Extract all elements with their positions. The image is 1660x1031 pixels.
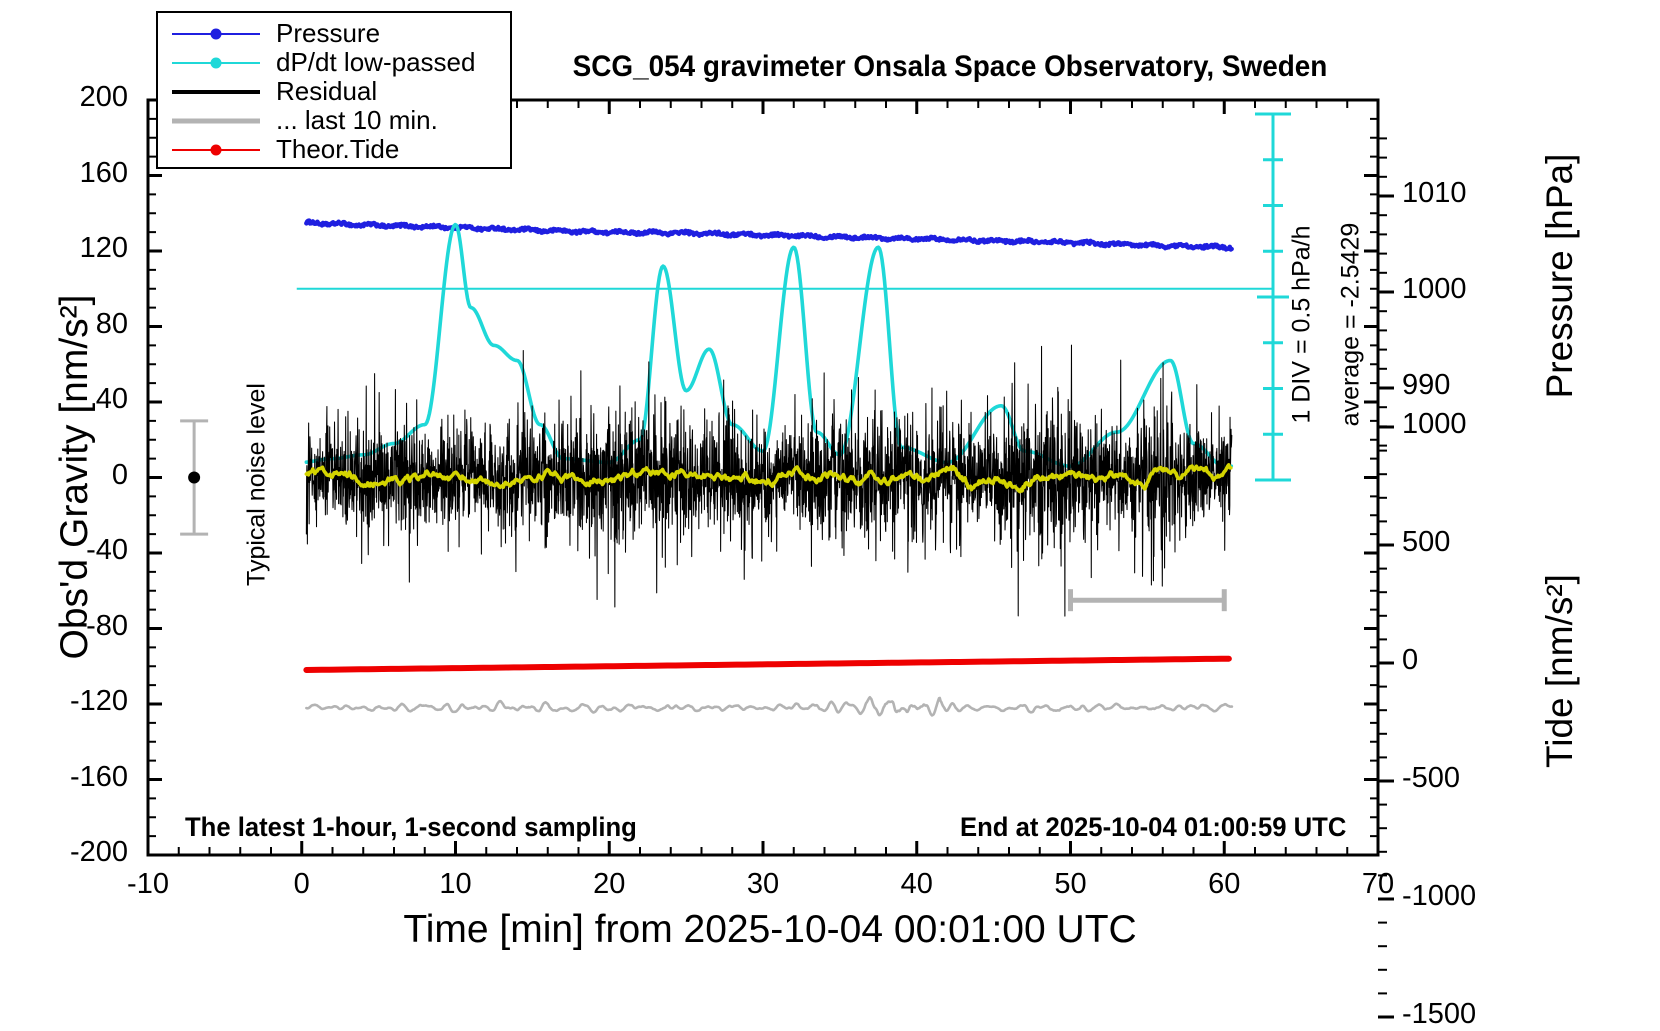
typical-noise-level-label: Typical noise level [243,365,272,605]
plot-canvas: SCG_054 gravimeter Onsala Space Observat… [0,0,1660,1020]
series-layer [297,221,1273,716]
y-tick-left--40: -40 [18,534,128,567]
legend-item-pressure[interactable]: Pressure [158,19,510,48]
dpdt-average-label: average = -2.5429 [1337,200,1366,450]
legend-swatch-last10 [172,111,260,131]
x-tick--10: -10 [93,868,203,901]
y-tick-tide-500: 500 [1402,526,1542,559]
y-tick-left-0: 0 [18,459,128,492]
y-tick-left--120: -120 [18,685,128,718]
footer-right-note: End at 2025-10-04 01:00:59 UTC [960,812,1346,843]
y-tick-left-200: 200 [18,81,128,114]
x-tick-60: 60 [1169,868,1279,901]
y-tick-tide--500: -500 [1402,762,1542,795]
x-tick-10: 10 [401,868,511,901]
y-tick-left-80: 80 [18,308,128,341]
y-axis-pressure-title: Pressure [hPa] [1539,86,1581,466]
legend-swatch-pressure [172,24,260,44]
footer-left-note: The latest 1-hour, 1-second sampling [185,812,637,843]
legend-label-last10: ... last 10 min. [276,105,438,136]
legend-item-last10[interactable]: ... last 10 min. [158,106,510,135]
y-tick-tide-1000: 1000 [1402,408,1542,441]
y-tick-left-40: 40 [18,383,128,416]
annotations-layer [180,114,1291,611]
y-axis-tide-title: Tide [nm/s²] [1539,506,1581,836]
x-tick-30: 30 [708,868,818,901]
y-tick-left--160: -160 [18,761,128,794]
legend-label-pressure: Pressure [276,18,380,49]
x-tick-40: 40 [862,868,972,901]
dpdt-division-label: 1 DIV = 0.5 hPa/h [1288,205,1317,445]
legend: Pressure dP/dt low-passed Residual ... l… [156,11,512,169]
x-tick-20: 20 [554,868,664,901]
y-tick-tide-0: 0 [1402,644,1542,677]
legend-item-tide[interactable]: Theor.Tide [158,135,510,164]
y-tick-pressure-1000: 1000 [1402,273,1542,306]
y-tick-left--200: -200 [18,836,128,869]
x-tick-0: 0 [247,868,357,901]
legend-item-residual[interactable]: Residual [158,77,510,106]
x-tick-50: 50 [1016,868,1126,901]
page-title: SCG_054 gravimeter Onsala Space Observat… [532,50,1369,84]
y-tick-left--80: -80 [18,610,128,643]
legend-swatch-dpdt [172,53,260,73]
legend-label-tide: Theor.Tide [276,134,399,165]
legend-swatch-tide [172,140,260,160]
legend-swatch-residual [172,82,260,102]
legend-label-residual: Residual [276,76,377,107]
y-tick-pressure-1010: 1010 [1402,177,1542,210]
legend-label-dpdt: dP/dt low-passed [276,47,475,78]
y-tick-tide--1000: -1000 [1402,880,1542,913]
y-tick-pressure-990: 990 [1402,369,1542,402]
y-tick-tide--1500: -1500 [1402,998,1542,1031]
legend-item-dpdt[interactable]: dP/dt low-passed [158,48,510,77]
x-axis-title: Time [min] from 2025-10-04 00:01:00 UTC [140,908,1400,952]
y-tick-left-160: 160 [18,157,128,190]
y-tick-left-120: 120 [18,232,128,265]
